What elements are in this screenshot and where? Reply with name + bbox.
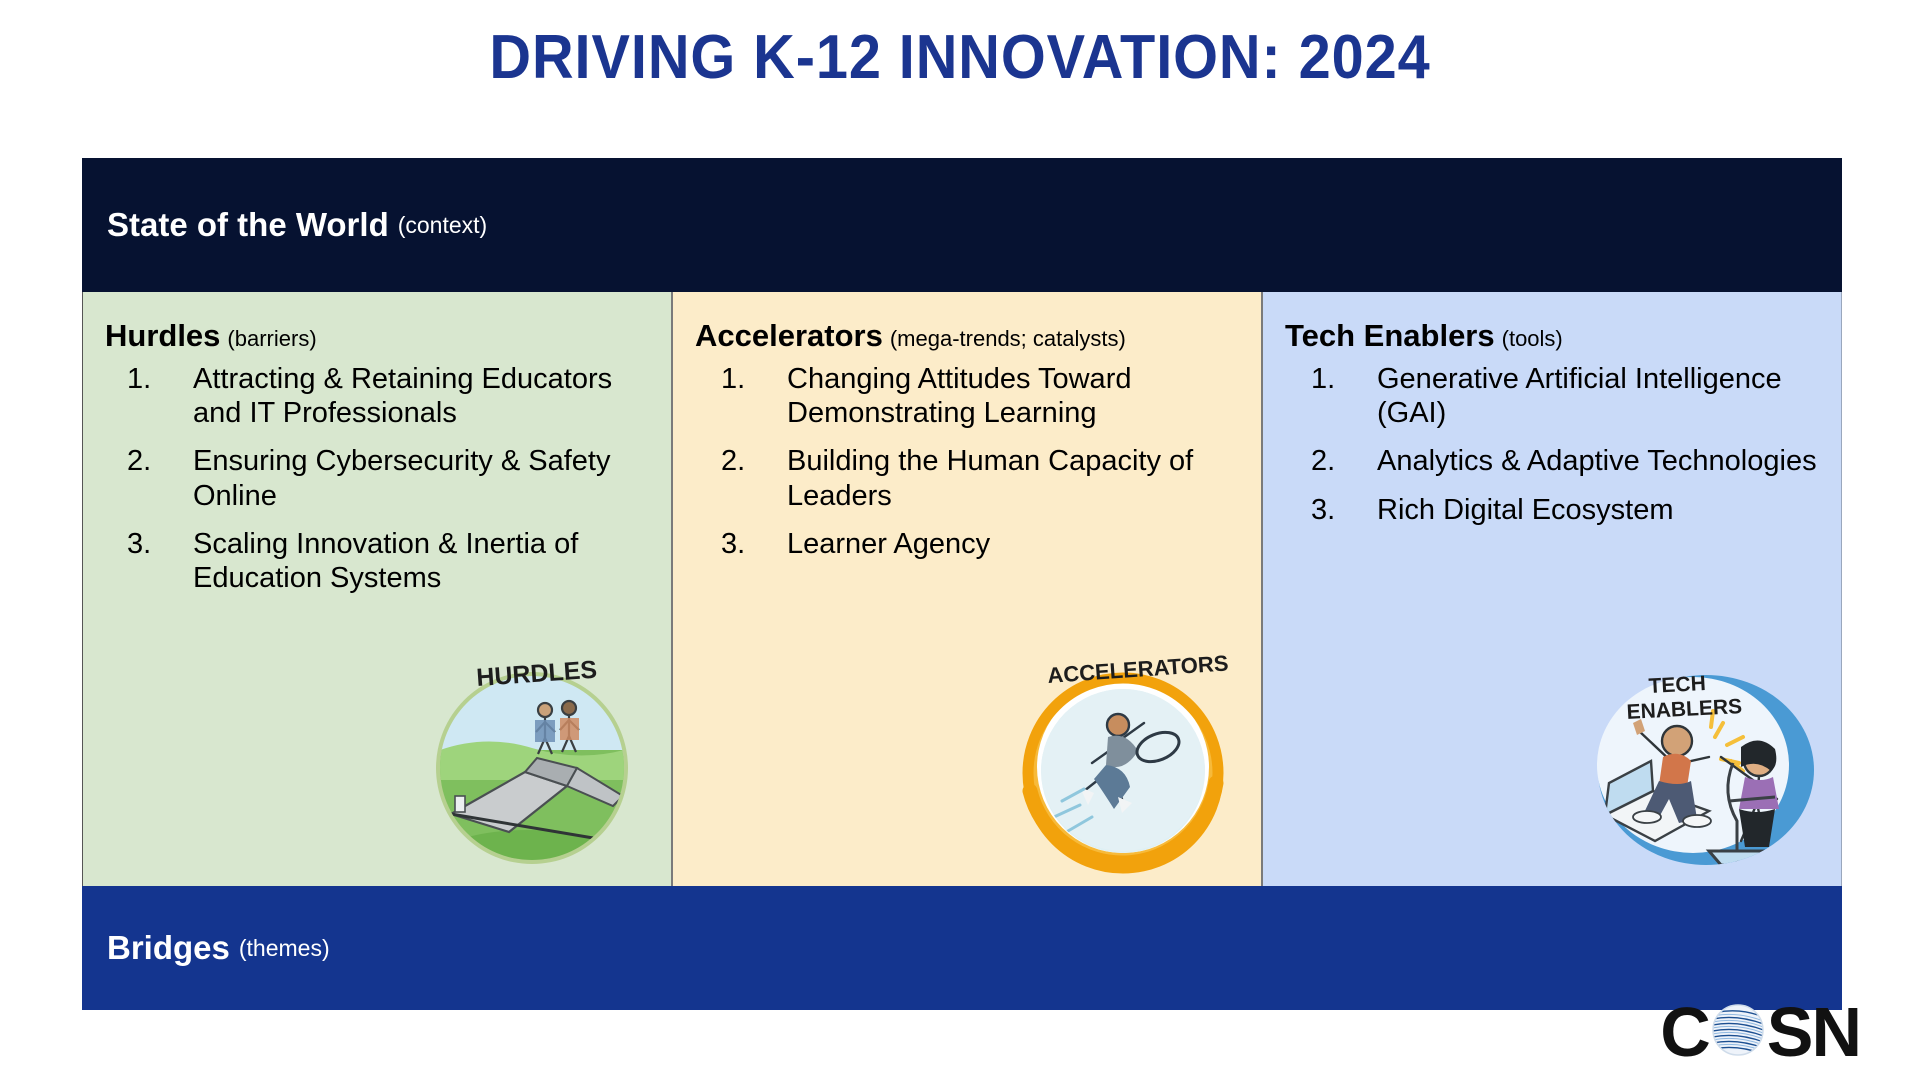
list-item-text: Analytics & Adaptive Technologies bbox=[1377, 445, 1817, 477]
list-item-text: Building the Human Capacity of Leaders bbox=[787, 445, 1193, 511]
list-item-text: Generative Artificial Intelligence (GAI) bbox=[1377, 363, 1782, 429]
page-title: DRIVING K-12 INNOVATION: 2024 bbox=[67, 22, 1853, 93]
list-item-text: Learner Agency bbox=[787, 528, 990, 560]
list-item-text: Scaling Innovation & Inertia of Educatio… bbox=[193, 528, 578, 594]
column-accelerators-paren: (mega-trends; catalysts) bbox=[890, 326, 1126, 351]
state-of-the-world-paren: (context) bbox=[398, 212, 487, 239]
bridges-paren: (themes) bbox=[239, 935, 330, 962]
list-item-number: 3. bbox=[1311, 493, 1365, 527]
column-tech-enablers-label: Tech Enablers bbox=[1285, 318, 1495, 353]
column-hurdles-heading: Hurdles(barriers) bbox=[105, 318, 657, 354]
accelerators-illustration: ACCELERATORS bbox=[1006, 651, 1241, 876]
state-of-the-world-band: State of the World (context) bbox=[82, 158, 1842, 292]
list-item-number: 1. bbox=[127, 362, 181, 396]
list-item-number: 2. bbox=[1311, 444, 1365, 478]
list-item-text: Attracting & Retaining Educators and IT … bbox=[193, 363, 612, 429]
column-accelerators: Accelerators(mega-trends; catalysts) 1.C… bbox=[672, 292, 1262, 886]
list-item-text: Changing Attitudes Toward Demonstrating … bbox=[787, 363, 1131, 429]
list-item-number: 2. bbox=[127, 444, 181, 478]
tech-enablers-list: 1.Generative Artificial Intelligence (GA… bbox=[1285, 362, 1827, 527]
list-item-text: Rich Digital Ecosystem bbox=[1377, 494, 1674, 526]
list-item: 2.Ensuring Cybersecurity & Safety Online bbox=[105, 444, 657, 512]
column-tech-enablers-heading: Tech Enablers(tools) bbox=[1285, 318, 1827, 354]
globe-icon bbox=[1710, 1002, 1766, 1063]
column-hurdles: Hurdles(barriers) 1.Attracting & Retaini… bbox=[82, 292, 672, 886]
list-item: 1.Changing Attitudes Toward Demonstratin… bbox=[695, 362, 1247, 430]
list-item-number: 1. bbox=[1311, 362, 1365, 396]
cosn-logo-text-left: C bbox=[1660, 997, 1709, 1067]
list-item-number: 2. bbox=[721, 444, 775, 478]
list-item: 2.Building the Human Capacity of Leaders bbox=[695, 444, 1247, 512]
list-item: 1.Attracting & Retaining Educators and I… bbox=[105, 362, 657, 430]
accelerators-illustration-caption: ACCELERATORS bbox=[1047, 651, 1230, 688]
tech-enablers-illustration-caption-line2: ENABLERS bbox=[1626, 695, 1743, 724]
tech-enablers-illustration: TECH ENABLERS bbox=[1581, 665, 1831, 880]
cosn-logo-text-right: SN bbox=[1767, 997, 1860, 1067]
tech-enablers-illustration-caption-line1: TECH bbox=[1648, 672, 1706, 698]
cosn-logo: C bbox=[1660, 998, 1860, 1066]
list-item-text: Ensuring Cybersecurity & Safety Online bbox=[193, 445, 610, 511]
hurdles-list: 1.Attracting & Retaining Educators and I… bbox=[105, 362, 657, 595]
hurdles-illustration-caption: HURDLES bbox=[475, 656, 598, 692]
accelerators-list: 1.Changing Attitudes Toward Demonstratin… bbox=[695, 362, 1247, 561]
list-item-number: 3. bbox=[127, 527, 181, 561]
column-tech-enablers-paren: (tools) bbox=[1502, 326, 1563, 351]
column-accelerators-heading: Accelerators(mega-trends; catalysts) bbox=[695, 318, 1247, 354]
framework-columns: Hurdles(barriers) 1.Attracting & Retaini… bbox=[82, 292, 1842, 886]
column-accelerators-label: Accelerators bbox=[695, 318, 883, 353]
list-item: 1.Generative Artificial Intelligence (GA… bbox=[1285, 362, 1827, 430]
list-item: 2.Analytics & Adaptive Technologies bbox=[1285, 444, 1827, 478]
column-hurdles-paren: (barriers) bbox=[227, 326, 316, 351]
list-item: 3.Learner Agency bbox=[695, 527, 1247, 561]
bridges-band: Bridges (themes) bbox=[82, 886, 1842, 1010]
hurdles-illustration: HURDLES bbox=[417, 646, 647, 876]
bridges-label: Bridges bbox=[107, 929, 230, 967]
column-tech-enablers: Tech Enablers(tools) 1.Generative Artifi… bbox=[1262, 292, 1842, 886]
list-item-number: 1. bbox=[721, 362, 775, 396]
list-item-number: 3. bbox=[721, 527, 775, 561]
column-hurdles-label: Hurdles bbox=[105, 318, 220, 353]
list-item: 3.Scaling Innovation & Inertia of Educat… bbox=[105, 527, 657, 595]
framework-diagram: State of the World (context) Hurdles(bar… bbox=[82, 158, 1842, 1010]
list-item: 3.Rich Digital Ecosystem bbox=[1285, 493, 1827, 527]
state-of-the-world-label: State of the World bbox=[107, 206, 389, 244]
